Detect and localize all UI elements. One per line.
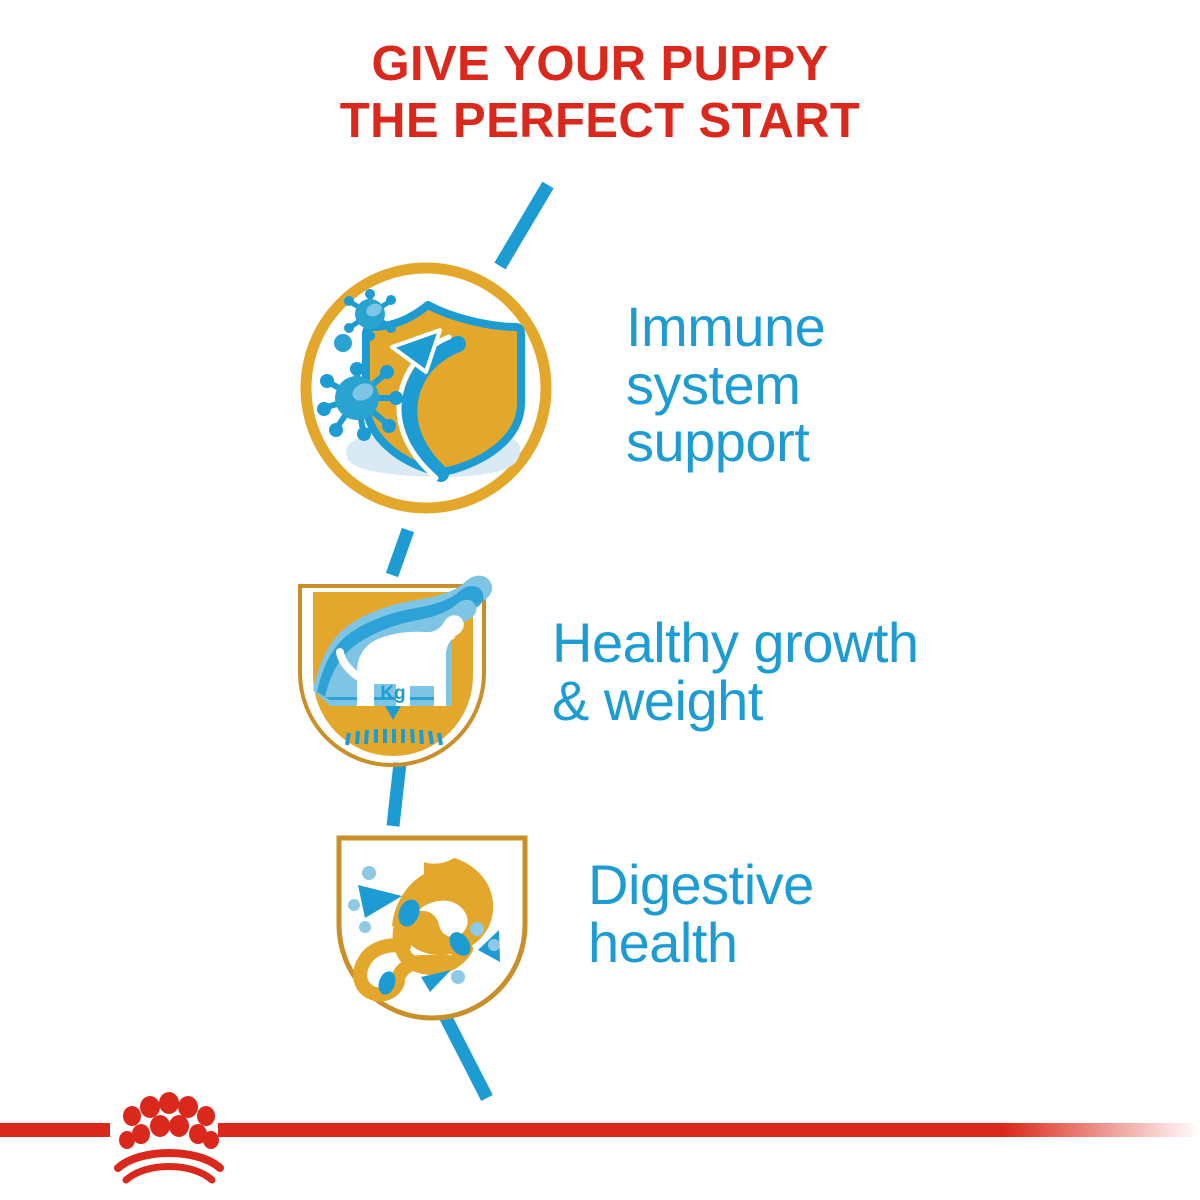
benefit-label-healthy-growth-and-weight: Healthy growth & weight: [552, 614, 919, 729]
scale-unit-label: Kg: [380, 683, 405, 704]
benefits-illustration: Kg: [0, 0, 1200, 1200]
brand-footer: [0, 1060, 1200, 1200]
benefit-label-line: support: [626, 413, 825, 471]
benefit-label-line: Healthy growth: [552, 614, 919, 672]
benefit-label-immune-system-support: Immune system support: [626, 298, 825, 471]
poster-canvas: GIVE YOUR PUPPY THE PERFECT START: [0, 0, 1200, 1200]
benefit-label-line: health: [588, 914, 814, 972]
footer-rule-right: [218, 1123, 1200, 1137]
benefit-label-digestive-health: Digestive health: [588, 856, 814, 971]
benefit-label-line: system: [626, 356, 825, 414]
virus-dot: [334, 334, 352, 352]
benefit-label-line: & weight: [552, 672, 919, 730]
footer-rule-left: [0, 1123, 110, 1137]
dog-weight-scale-icon: Kg: [300, 576, 492, 765]
stomach-intestine-icon: [339, 838, 525, 1018]
shield-virus-icon: [306, 268, 546, 508]
royal-canin-crown-logo: [118, 1092, 220, 1180]
benefit-label-line: Digestive: [588, 856, 814, 914]
benefit-label-line: Immune: [626, 298, 825, 356]
